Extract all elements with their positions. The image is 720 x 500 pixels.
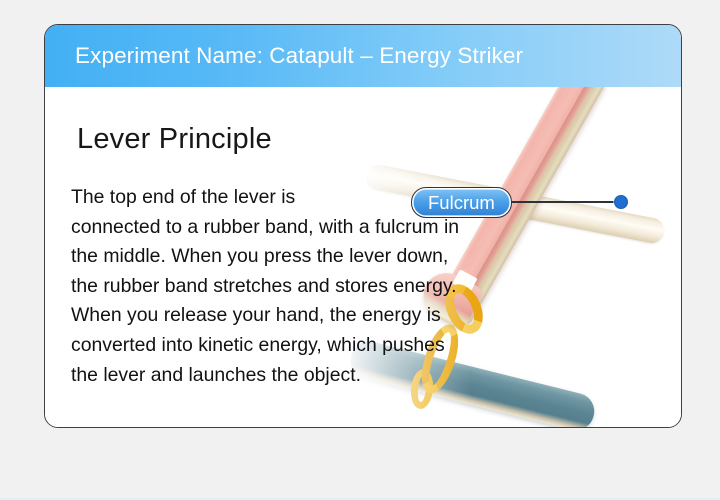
fulcrum-callout: Fulcrum xyxy=(411,187,628,217)
body-line: converted into kinetic energy, which pus… xyxy=(71,331,541,361)
section-title: Lever Principle xyxy=(77,123,272,156)
card-body: Lever Principle The top end of the lever… xyxy=(45,87,681,427)
body-line: When you release your hand, the energy i… xyxy=(71,301,541,331)
callout-leader-line xyxy=(511,201,619,203)
experiment-title: Experiment Name: Catapult – Energy Strik… xyxy=(75,43,523,69)
card-header: Experiment Name: Catapult – Energy Strik… xyxy=(45,25,681,87)
body-line: the middle. When you press the lever dow… xyxy=(71,242,541,272)
callout-anchor-dot xyxy=(614,195,628,209)
fulcrum-label-badge: Fulcrum xyxy=(411,187,512,218)
body-line: the rubber band stretches and stores ene… xyxy=(71,272,541,302)
body-line: the lever and launches the object. xyxy=(71,361,541,391)
experiment-card: Experiment Name: Catapult – Energy Strik… xyxy=(44,24,682,428)
